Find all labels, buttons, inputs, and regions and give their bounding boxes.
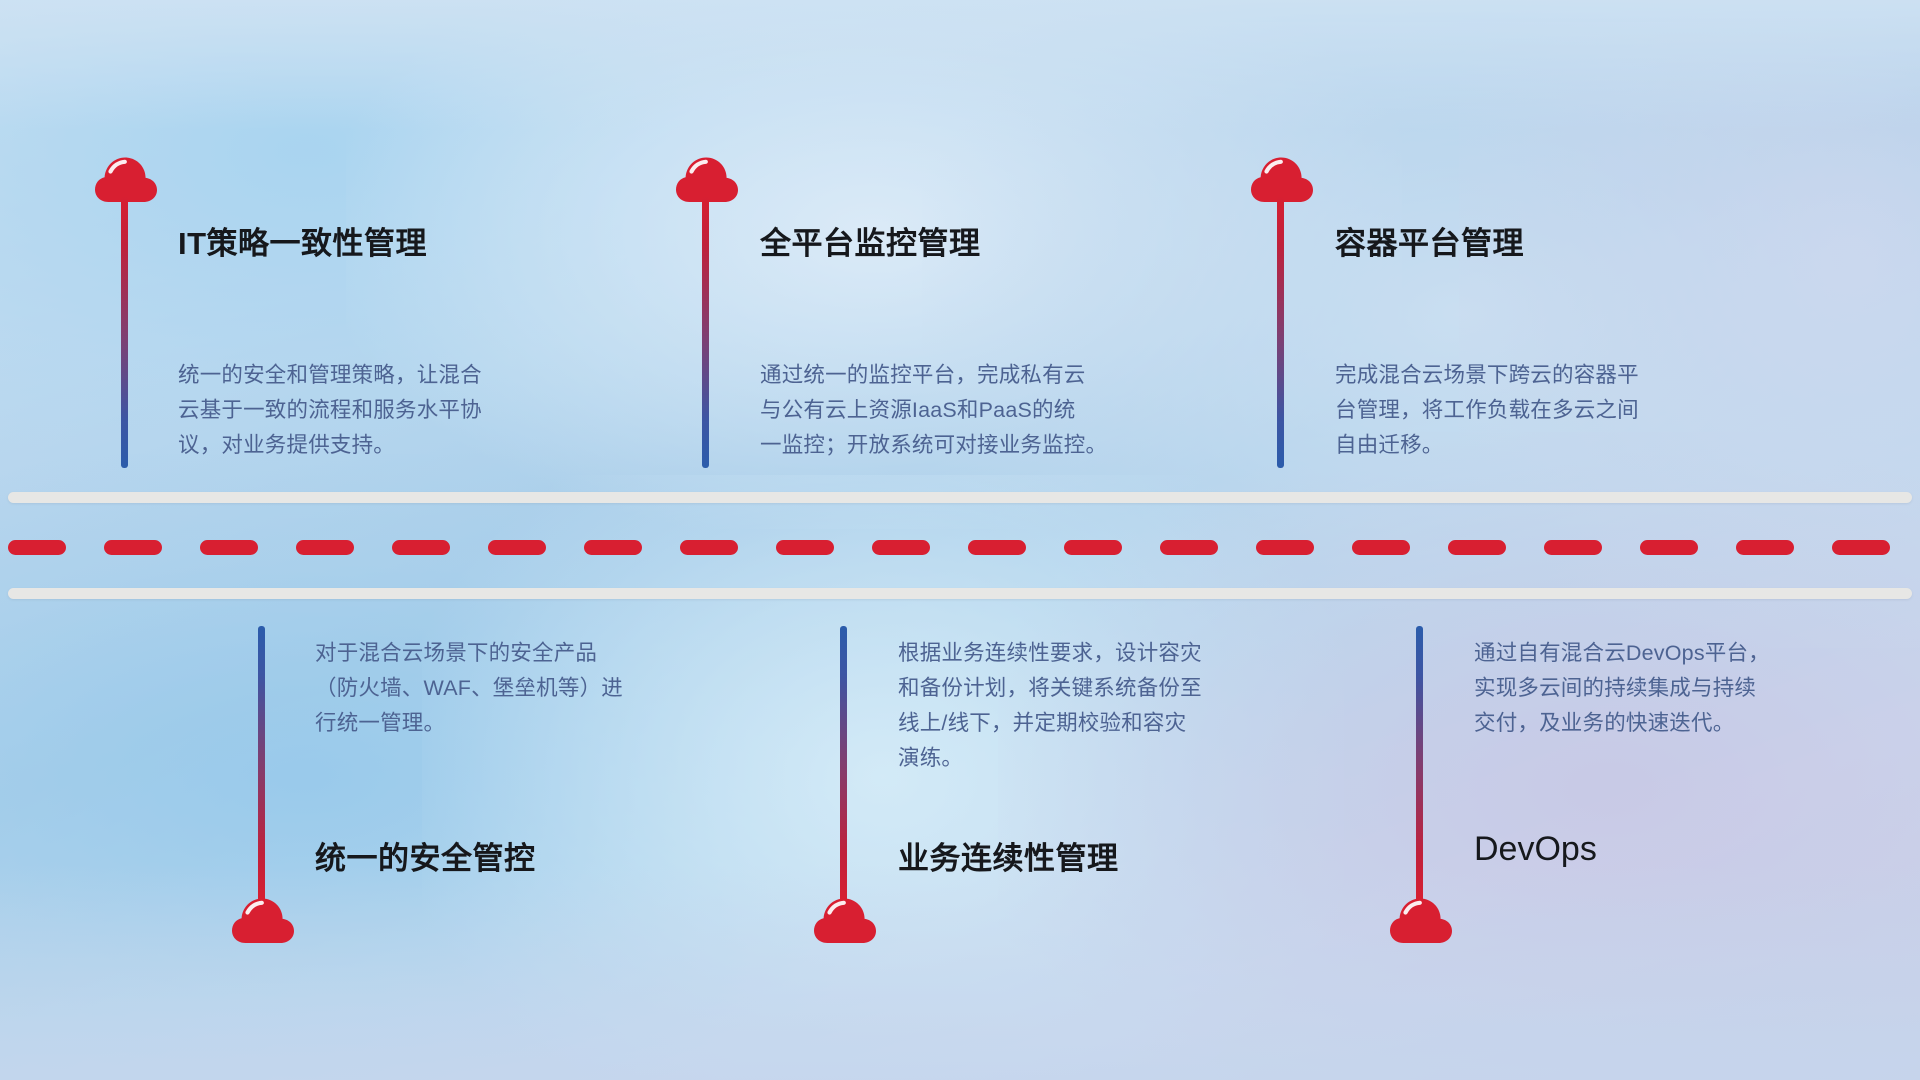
divider-dash — [680, 540, 738, 555]
pin-description: 根据业务连续性要求，设计容灾 和备份计划，将关键系统备份至 线上/线下，并定期校… — [898, 636, 1202, 776]
cloud-icon — [814, 898, 876, 944]
desc-line: 一监控；开放系统可对接业务监控。 — [760, 428, 1107, 463]
divider-dash — [584, 540, 642, 555]
pin-description: 对于混合云场景下的安全产品 （防火墙、WAF、堡垒机等）进 行统一管理。 — [315, 636, 623, 741]
desc-line: 行统一管理。 — [315, 706, 623, 741]
desc-line: 和备份计划，将关键系统备份至 — [898, 671, 1202, 706]
pin-title: 业务连续性管理 — [898, 833, 1119, 878]
divider-dash — [488, 540, 546, 555]
divider-dash — [1160, 540, 1218, 555]
pin-stem — [121, 196, 128, 468]
pin-description: 通过自有混合云DevOps平台， 实现多云间的持续集成与持续 交付，及业务的快速… — [1474, 636, 1770, 741]
desc-line: （防火墙、WAF、堡垒机等）进 — [315, 671, 623, 706]
divider-dash — [296, 540, 354, 555]
divider-dash — [1832, 540, 1890, 555]
divider-dash — [1544, 540, 1602, 555]
pin-stem — [1277, 196, 1284, 468]
pin-title: 全平台监控管理 — [760, 218, 981, 263]
desc-line: 云基于一致的流程和服务水平协 — [178, 393, 482, 428]
divider-dash — [872, 540, 930, 555]
pin-description: 统一的安全和管理策略，让混合 云基于一致的流程和服务水平协 议，对业务提供支持。 — [178, 358, 482, 463]
desc-line: 议，对业务提供支持。 — [178, 428, 482, 463]
divider-dash — [200, 540, 258, 555]
divider-dash — [392, 540, 450, 555]
desc-line: 台管理，将工作负载在多云之间 — [1335, 393, 1639, 428]
divider-dash — [776, 540, 834, 555]
pin-description: 通过统一的监控平台，完成私有云 与公有云上资源IaaS和PaaS的统 一监控；开… — [760, 358, 1107, 463]
desc-line: 与公有云上资源IaaS和PaaS的统 — [760, 393, 1107, 428]
pin-title: 统一的安全管控 — [315, 833, 536, 878]
divider-rail-top — [8, 492, 1912, 503]
divider-dash — [8, 540, 66, 555]
desc-line: 统一的安全和管理策略，让混合 — [178, 358, 482, 393]
divider-dash — [1640, 540, 1698, 555]
desc-line: 交付，及业务的快速迭代。 — [1474, 706, 1770, 741]
divider-dash — [1352, 540, 1410, 555]
divider-dash — [1256, 540, 1314, 555]
pin-title: IT策略一致性管理 — [178, 218, 427, 263]
divider-rail-bottom — [8, 588, 1912, 599]
desc-line: 完成混合云场景下跨云的容器平 — [1335, 358, 1639, 393]
divider-dash — [968, 540, 1026, 555]
desc-line: 自由迁移。 — [1335, 428, 1639, 463]
desc-line: 通过自有混合云DevOps平台， — [1474, 636, 1770, 671]
desc-line: 演练。 — [898, 741, 1202, 776]
pin-stem — [1416, 626, 1423, 903]
pin-stem — [840, 626, 847, 903]
divider-dashed-centerline — [0, 540, 1920, 555]
pin-description: 完成混合云场景下跨云的容器平 台管理，将工作负载在多云之间 自由迁移。 — [1335, 358, 1639, 463]
cloud-icon — [232, 898, 294, 944]
pin-stem — [258, 626, 265, 903]
pin-title: DevOps — [1474, 830, 1597, 869]
cloud-icon — [1390, 898, 1452, 944]
desc-line: 对于混合云场景下的安全产品 — [315, 636, 623, 671]
divider-dash — [104, 540, 162, 555]
desc-line: 根据业务连续性要求，设计容灾 — [898, 636, 1202, 671]
divider-dash — [1448, 540, 1506, 555]
pin-stem — [702, 196, 709, 468]
pin-title: 容器平台管理 — [1335, 218, 1524, 263]
desc-line: 线上/线下，并定期校验和容灾 — [898, 706, 1202, 741]
desc-line: 实现多云间的持续集成与持续 — [1474, 671, 1770, 706]
desc-line: 通过统一的监控平台，完成私有云 — [760, 358, 1107, 393]
divider-dash — [1736, 540, 1794, 555]
divider-dash — [1064, 540, 1122, 555]
